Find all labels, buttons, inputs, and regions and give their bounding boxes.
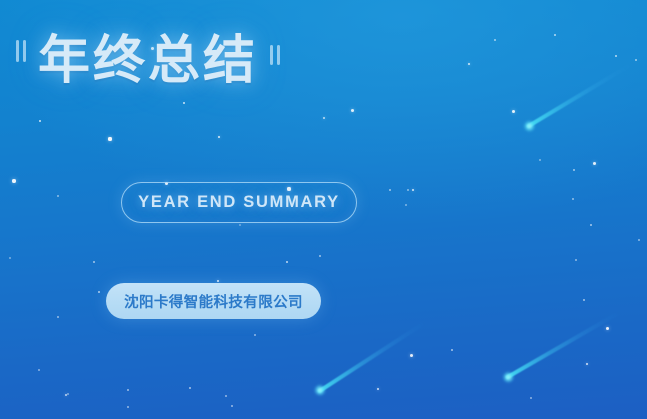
star-dot: [98, 291, 100, 293]
star-dot: [127, 406, 129, 408]
star-dot: [286, 261, 289, 264]
star-dot: [530, 397, 532, 399]
star-dot: [323, 117, 326, 120]
star-dot: [468, 63, 471, 66]
star-dot: [554, 34, 557, 37]
star-dot: [539, 159, 541, 161]
star-dot: [9, 257, 11, 259]
star-dot: [512, 110, 515, 113]
page-title: 年终总结: [30, 35, 266, 87]
star-dot: [39, 120, 42, 123]
year-end-summary-poster: 年终总结 YEAR END SUMMARY 沈阳卡得智能科技有限公司: [0, 0, 647, 419]
meteor-bottom-center-icon: [317, 321, 426, 394]
meteor-trail: [317, 321, 426, 394]
star-dot: [67, 393, 69, 395]
star-dot: [451, 349, 454, 352]
star-dot: [254, 334, 256, 336]
star-dot: [225, 395, 227, 397]
meteor-trail: [526, 62, 633, 128]
star-dot: [573, 169, 575, 171]
company-name-label: 沈阳卡得智能科技有限公司: [124, 291, 303, 312]
star-dot: [93, 261, 96, 264]
star-dot: [377, 388, 380, 391]
star-dot: [351, 109, 354, 112]
star-dot: [127, 389, 129, 391]
title-block: 年终总结: [16, 28, 280, 94]
star-dot: [38, 369, 40, 371]
star-dot: [65, 394, 68, 397]
star-dot: [575, 259, 577, 261]
star-dot: [615, 55, 618, 58]
star-dot: [590, 224, 593, 227]
star-dot: [57, 316, 59, 318]
star-dot: [218, 136, 221, 139]
meteor-head: [312, 383, 327, 398]
star-dot: [586, 363, 589, 366]
english-subtitle-pill[interactable]: YEAR END SUMMARY: [121, 182, 357, 223]
english-subtitle-label: YEAR END SUMMARY: [138, 193, 340, 212]
star-dot: [412, 189, 415, 192]
star-dot: [572, 198, 574, 200]
company-name-pill[interactable]: 沈阳卡得智能科技有限公司: [106, 283, 321, 319]
star-dot: [410, 354, 413, 357]
star-dot: [583, 299, 586, 302]
star-dot: [189, 387, 192, 390]
star-dot: [407, 189, 409, 191]
star-dot: [389, 189, 391, 191]
quote-tick-left-icon: [16, 36, 30, 86]
star-dot: [239, 224, 241, 226]
star-dot: [57, 195, 59, 197]
meteor-head: [501, 369, 516, 384]
star-dot: [108, 137, 111, 140]
meteor-top-right-icon: [526, 62, 633, 128]
star-dot: [231, 405, 233, 407]
meteor-head: [522, 118, 537, 133]
star-dot: [183, 102, 186, 105]
star-dot: [405, 204, 407, 206]
meteor-bottom-right-icon: [505, 310, 621, 380]
star-dot: [319, 255, 322, 258]
star-dot: [593, 162, 596, 165]
star-dot: [217, 280, 220, 283]
star-dot: [638, 239, 640, 241]
star-dot: [494, 39, 496, 41]
star-dot: [606, 327, 609, 330]
meteor-trail: [505, 310, 621, 380]
star-dot: [635, 59, 637, 61]
quote-tick-right-icon: [266, 31, 280, 91]
star-dot: [12, 179, 15, 182]
